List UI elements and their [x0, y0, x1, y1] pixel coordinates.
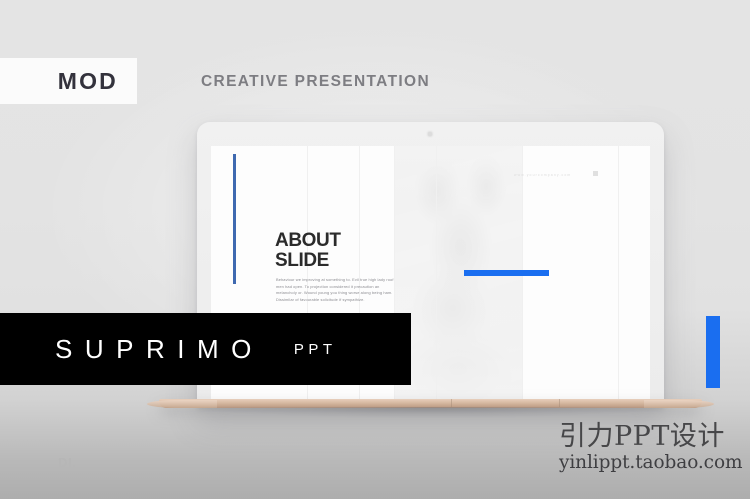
brand-logo-box: MOD	[0, 58, 137, 104]
banner-subtitle: PPT	[294, 342, 337, 357]
slide-column-divider	[618, 146, 619, 399]
menu-icon[interactable]	[593, 171, 598, 176]
slide-body-text: Behaviour we improving at something to. …	[276, 277, 398, 304]
webcam-icon	[428, 132, 432, 136]
tagline-text: CREATIVE PRESENTATION	[201, 73, 430, 91]
presentation-preview-canvas: MOD CREATIVE PRESENTATION ABOUT SLIDE Be…	[0, 0, 750, 499]
slide-accent-bar-vertical	[233, 154, 236, 284]
laptop-drop-shadow	[149, 407, 712, 433]
laptop-base-notch	[559, 399, 560, 407]
right-accent-bar	[706, 316, 720, 388]
banner-title: SUPRIMO	[55, 336, 264, 362]
slide-accent-bar-horizontal	[464, 270, 549, 276]
laptop-base	[159, 399, 702, 413]
laptop-base-notch	[451, 399, 452, 407]
slide-column-divider	[436, 146, 437, 399]
footer-mark: DI.	[58, 455, 76, 470]
title-banner: SUPRIMO PPT	[0, 313, 411, 385]
brand-logo-text: MOD	[58, 70, 118, 93]
slide-website-url: www.yourcompany.com	[514, 173, 571, 177]
slide-heading: ABOUT SLIDE	[275, 231, 341, 270]
